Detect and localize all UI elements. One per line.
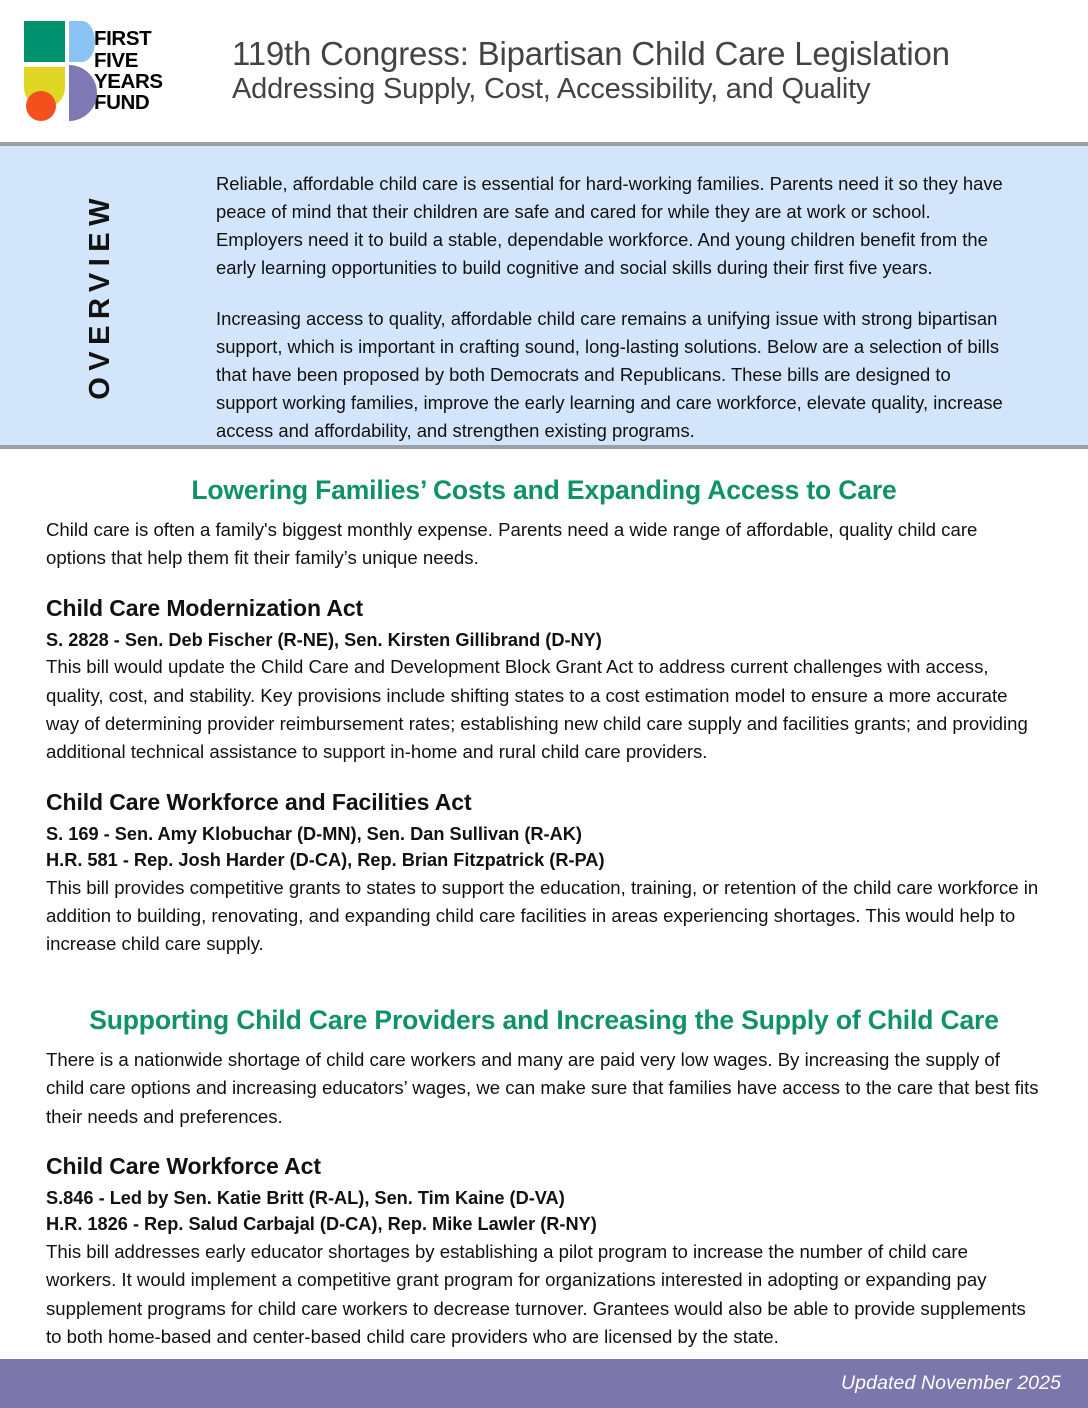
bill-title: Child Care Workforce and Facilities Act <box>46 789 1042 816</box>
section-lowering-costs: Lowering Families’ Costs and Expanding A… <box>46 475 1042 959</box>
header-title-block: 119th Congress: Bipartisan Child Care Le… <box>232 35 1088 107</box>
overview-paragraph: Reliable, affordable child care is essen… <box>216 170 1012 283</box>
section-supporting-providers: Supporting Child Care Providers and Incr… <box>46 1005 1042 1352</box>
page-subtitle: Addressing Supply, Cost, Accessibility, … <box>232 72 1088 107</box>
fff-logo-mark-icon <box>24 21 84 121</box>
logo-orange-dot-icon <box>26 91 56 121</box>
overview-label-container: OVERVIEW <box>0 146 200 445</box>
section-heading: Supporting Child Care Providers and Incr… <box>46 1005 1042 1037</box>
section-heading: Lowering Families’ Costs and Expanding A… <box>46 475 1042 507</box>
footer-updated-text: Updated November 2025 <box>841 1372 1061 1395</box>
bill-description: This bill addresses early educator short… <box>46 1238 1042 1352</box>
section-intro: Child care is often a family's biggest m… <box>46 516 1042 573</box>
bill-sponsor-line: H.R. 1826 - Rep. Salud Carbajal (D-CA), … <box>46 1211 1042 1237</box>
organization-logo: FIRST FIVE YEARS FUND <box>24 21 206 121</box>
logo-green-square-icon <box>24 21 65 62</box>
bill-entry: Child Care Workforce Act S.846 - Led by … <box>46 1153 1042 1352</box>
bill-description: This bill would update the Child Care an… <box>46 653 1042 767</box>
logo-purple-half-circle-icon <box>69 65 97 121</box>
logo-word-line-1: FIRST <box>94 28 163 49</box>
bill-sponsor-line: S. 169 - Sen. Amy Klobuchar (D-MN), Sen.… <box>46 821 1042 847</box>
bill-title: Child Care Modernization Act <box>46 595 1042 622</box>
overview-paragraph: Increasing access to quality, affordable… <box>216 305 1012 446</box>
section-intro: There is a nationwide shortage of child … <box>46 1046 1042 1131</box>
bill-sponsor-line: S.846 - Led by Sen. Katie Britt (R-AL), … <box>46 1185 1042 1211</box>
page-header: FIRST FIVE YEARS FUND 119th Congress: Bi… <box>0 0 1088 142</box>
overview-panel: OVERVIEW Reliable, affordable child care… <box>0 142 1088 449</box>
logo-word-line-2: FIVE <box>94 50 163 71</box>
main-content: Lowering Families’ Costs and Expanding A… <box>0 475 1088 1352</box>
bill-entry: Child Care Modernization Act S. 2828 - S… <box>46 595 1042 767</box>
bill-sponsor-line: S. 2828 - Sen. Deb Fischer (R-NE), Sen. … <box>46 627 1042 653</box>
bill-title: Child Care Workforce Act <box>46 1153 1042 1180</box>
organization-name: FIRST FIVE YEARS FUND <box>94 28 163 113</box>
logo-yellow-block-icon <box>24 67 65 87</box>
logo-blue-quarter-icon <box>69 21 95 62</box>
bill-sponsor-line: H.R. 581 - Rep. Josh Harder (D-CA), Rep.… <box>46 847 1042 873</box>
bill-entry: Child Care Workforce and Facilities Act … <box>46 789 1042 959</box>
logo-word-line-3: YEARS <box>94 71 163 92</box>
overview-body: Reliable, affordable child care is essen… <box>200 146 1088 445</box>
page-footer: Updated November 2025 <box>0 1359 1088 1408</box>
page-title: 119th Congress: Bipartisan Child Care Le… <box>232 35 1088 72</box>
overview-label: OVERVIEW <box>86 192 115 400</box>
bill-description: This bill provides competitive grants to… <box>46 874 1042 959</box>
logo-word-line-4: FUND <box>94 92 163 113</box>
